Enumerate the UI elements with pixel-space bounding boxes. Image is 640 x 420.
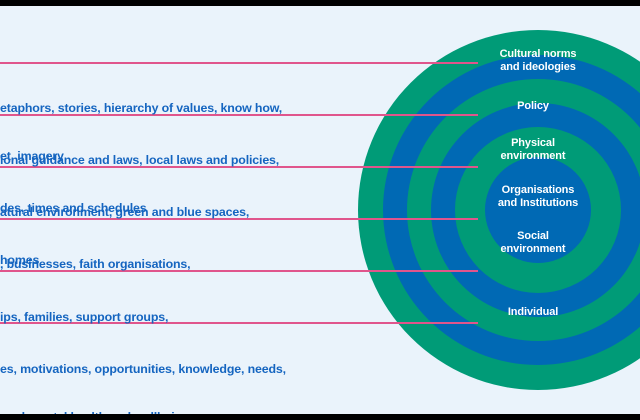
diagram-canvas: Cultural norms and ideologies Policy Phy…: [0, 6, 640, 414]
ring-label-organisations-and-institutions: Organisations and Institutions: [498, 184, 578, 210]
description-line-1: atural environment, green and blue space…: [0, 204, 249, 220]
diagram-stage: Cultural norms and ideologies Policy Phy…: [0, 0, 640, 420]
ring-label-physical-environment: Physical environment: [501, 137, 566, 163]
ring-label-line-1: Policy: [517, 100, 549, 113]
ring-label-line-1: Physical: [501, 137, 566, 150]
ring-label-cultural-norms-and-ideologies: Cultural norms and ideologies: [500, 48, 577, 74]
description-line-1: ips, families, support groups,: [0, 309, 168, 325]
ring-label-social-environment: Social environment: [501, 230, 566, 256]
letterbox-bar-bottom: [0, 414, 640, 420]
description-line-1: etaphors, stories, hierarchy of values, …: [0, 100, 282, 116]
ring-label-line-2: and ideologies: [500, 61, 577, 74]
ring-label-policy: Policy: [517, 100, 549, 113]
connector-cultural-norms: [0, 62, 478, 64]
ring-label-individual: Individual: [508, 306, 558, 319]
description-line-1: ional guidance and laws, local laws and …: [0, 152, 279, 168]
ring-label-line-1: Organisations: [498, 184, 578, 197]
ring-label-line-1: Cultural norms: [500, 48, 577, 61]
description-line-1: , businesses, faith organisations,: [0, 256, 190, 272]
description-line-1: es, motivations, opportunities, knowledg…: [0, 361, 286, 377]
ring-label-line-1: Individual: [508, 306, 558, 319]
ring-label-line-2: environment: [501, 243, 566, 256]
ring-label-line-1: Social: [501, 230, 566, 243]
ring-label-line-2: environment: [501, 150, 566, 163]
ring-label-line-2: and Institutions: [498, 197, 578, 210]
description-individual: es, motivations, opportunities, knowledg…: [0, 329, 286, 414]
